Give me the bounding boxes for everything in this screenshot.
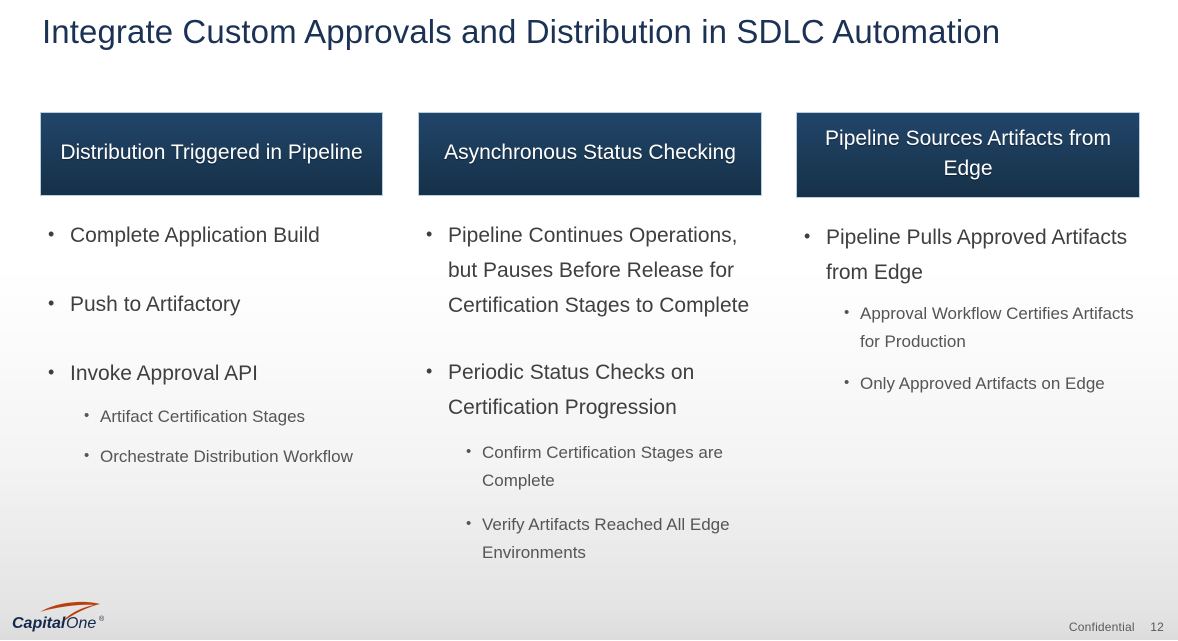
svg-text:Capital: Capital [12, 615, 66, 632]
bullet-text: Invoke Approval API [70, 362, 258, 385]
column-header-2: Asynchronous Status Checking [418, 112, 762, 196]
sub-bullet-list: Approval Workflow Certifies Artifacts fo… [842, 300, 1140, 398]
footer-confidentiality: Confidential 12 [1069, 620, 1164, 634]
sub-bullet-item: Approval Workflow Certifies Artifacts fo… [842, 300, 1140, 356]
sub-bullet-text: Approval Workflow Certifies Artifacts fo… [860, 304, 1134, 351]
content-columns: Distribution Triggered in Pipeline Compl… [0, 112, 1178, 612]
bullet-item: Push to Artifactory [40, 287, 383, 322]
column-pipeline-sources: Pipeline Sources Artifacts from Edge Pip… [796, 112, 1140, 412]
sub-bullet-text: Orchestrate Distribution Workflow [100, 447, 353, 466]
column-header-1: Distribution Triggered in Pipeline [40, 112, 383, 196]
sub-bullet-item: Confirm Certification Stages are Complet… [464, 439, 762, 495]
capital-one-logo-icon: Capital One ® [10, 598, 128, 636]
column-header-3: Pipeline Sources Artifacts from Edge [796, 112, 1140, 198]
page-number: 12 [1150, 620, 1164, 634]
bullet-item: Periodic Status Checks on Certification … [418, 355, 762, 567]
sub-bullet-item: Artifact Certification Stages [82, 403, 383, 431]
sub-bullet-item: Orchestrate Distribution Workflow [82, 443, 383, 471]
bullet-item: Pipeline Continues Operations, but Pause… [418, 218, 762, 323]
bullet-item: Complete Application Build [40, 218, 383, 253]
bullet-text: Pipeline Continues Operations, but Pause… [448, 224, 749, 317]
sub-bullet-list: Confirm Certification Stages are Complet… [464, 439, 762, 567]
capital-one-logo: Capital One ® [10, 598, 128, 636]
sub-bullet-item: Only Approved Artifacts on Edge [842, 370, 1140, 398]
bullet-item: Invoke Approval API Artifact Certificati… [40, 356, 383, 471]
bullet-item: Pipeline Pulls Approved Artifacts from E… [796, 220, 1140, 398]
svg-text:One: One [66, 615, 96, 632]
bullet-list-1: Complete Application Build Push to Artif… [40, 218, 383, 471]
sub-bullet-text: Confirm Certification Stages are Complet… [482, 443, 723, 490]
sub-bullet-list: Artifact Certification Stages Orchestrat… [82, 403, 383, 471]
sub-bullet-text: Only Approved Artifacts on Edge [860, 374, 1105, 393]
column-distribution-triggered: Distribution Triggered in Pipeline Compl… [40, 112, 383, 505]
bullet-text: Push to Artifactory [70, 293, 240, 316]
column-asynchronous-status: Asynchronous Status Checking Pipeline Co… [418, 112, 762, 599]
sub-bullet-item: Verify Artifacts Reached All Edge Enviro… [464, 511, 762, 567]
page-title: Integrate Custom Approvals and Distribut… [42, 10, 1142, 54]
sub-bullet-text: Verify Artifacts Reached All Edge Enviro… [482, 515, 730, 562]
bullet-list-2: Pipeline Continues Operations, but Pause… [418, 218, 762, 567]
bullet-list-3: Pipeline Pulls Approved Artifacts from E… [796, 220, 1140, 398]
bullet-text: Complete Application Build [70, 224, 320, 247]
sub-bullet-text: Artifact Certification Stages [100, 407, 305, 426]
bullet-text: Periodic Status Checks on Certification … [448, 361, 694, 419]
svg-text:®: ® [99, 615, 105, 623]
slide: Integrate Custom Approvals and Distribut… [0, 0, 1178, 640]
confidential-label: Confidential [1069, 620, 1135, 634]
bullet-text: Pipeline Pulls Approved Artifacts from E… [826, 226, 1127, 284]
